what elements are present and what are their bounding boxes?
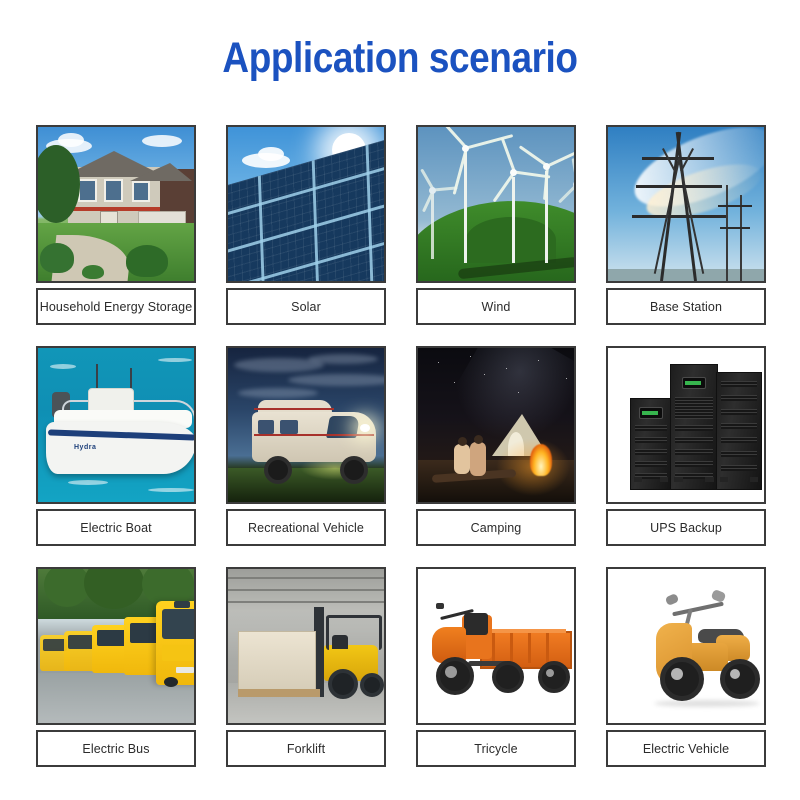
label-solar: Solar: [226, 288, 386, 325]
label-household-energy-storage: Household Energy Storage: [36, 288, 196, 325]
thumbnail-tricycle: [416, 567, 576, 725]
label-tricycle: Tricycle: [416, 730, 576, 767]
scenario-card-ups-backup[interactable]: UPS Backup: [606, 346, 766, 546]
scenario-card-tricycle[interactable]: Tricycle: [416, 567, 576, 767]
label-electric-vehicle: Electric Vehicle: [606, 730, 766, 767]
scenario-card-base-station[interactable]: Base Station: [606, 125, 766, 325]
thumbnail-electric-bus: [36, 567, 196, 725]
thumbnail-forklift: [226, 567, 386, 725]
scenario-card-solar[interactable]: Solar: [226, 125, 386, 325]
house-illustration: [38, 127, 194, 281]
transmission-pylon-illustration: [608, 127, 764, 281]
wind-turbine-illustration: [418, 127, 574, 281]
page-title: Application scenario: [56, 34, 744, 83]
scenario-card-electric-vehicle[interactable]: Electric Vehicle: [606, 567, 766, 767]
label-base-station: Base Station: [606, 288, 766, 325]
scenario-card-camping[interactable]: Camping: [416, 346, 576, 546]
scenario-card-household-energy-storage[interactable]: Household Energy Storage: [36, 125, 196, 325]
label-electric-boat: Electric Boat: [36, 509, 196, 546]
scenario-card-wind[interactable]: Wind: [416, 125, 576, 325]
thumbnail-ups-backup: [606, 346, 766, 504]
cargo-tricycle-illustration: [418, 569, 574, 723]
scenario-card-electric-boat[interactable]: Hydra Electric Boat: [36, 346, 196, 546]
forklift-illustration: [228, 569, 384, 723]
thumbnail-solar: [226, 125, 386, 283]
scenario-grid: Household Energy Storage: [36, 125, 766, 767]
label-camping: Camping: [416, 509, 576, 546]
label-wind: Wind: [416, 288, 576, 325]
label-forklift: Forklift: [226, 730, 386, 767]
thumbnail-base-station: [606, 125, 766, 283]
campfire-illustration: [418, 348, 574, 502]
solar-panel-illustration: [228, 127, 384, 281]
thumbnail-electric-boat: Hydra: [36, 346, 196, 504]
scenario-card-forklift[interactable]: Forklift: [226, 567, 386, 767]
bus-fleet-illustration: [38, 569, 194, 723]
thumbnail-recreational-vehicle: [226, 346, 386, 504]
scenario-card-electric-bus[interactable]: Electric Bus: [36, 567, 196, 767]
motorhome-illustration: [228, 348, 384, 502]
scenario-card-recreational-vehicle[interactable]: Recreational Vehicle: [226, 346, 386, 546]
thumbnail-camping: [416, 346, 576, 504]
label-ups-backup: UPS Backup: [606, 509, 766, 546]
label-electric-bus: Electric Bus: [36, 730, 196, 767]
thumbnail-wind: [416, 125, 576, 283]
thumbnail-household-energy-storage: [36, 125, 196, 283]
motorboat-illustration: Hydra: [38, 348, 194, 502]
label-recreational-vehicle: Recreational Vehicle: [226, 509, 386, 546]
ups-cabinet-illustration: [608, 348, 764, 502]
thumbnail-electric-vehicle: [606, 567, 766, 725]
electric-scooter-illustration: [608, 569, 764, 723]
application-scenario-page: Application scenario: [0, 0, 800, 800]
